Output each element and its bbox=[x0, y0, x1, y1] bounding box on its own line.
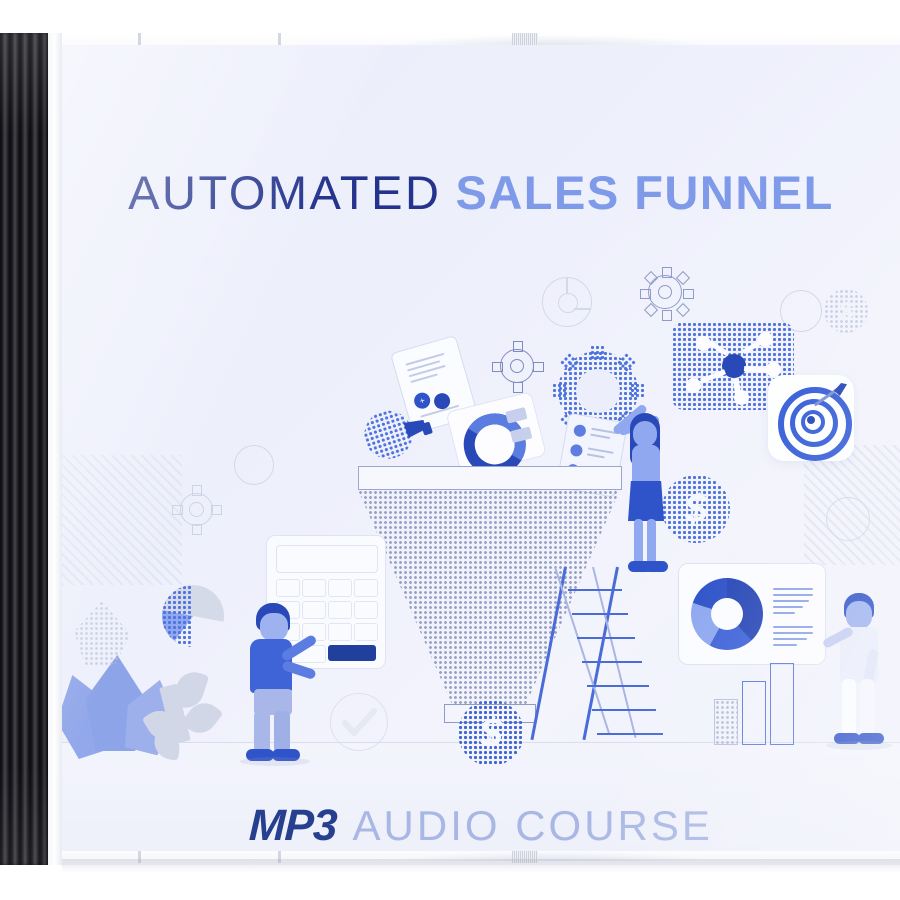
case-notch bbox=[278, 33, 281, 45]
case-drop-shadow bbox=[62, 859, 900, 873]
dollar-coin-icon-small: $ bbox=[824, 289, 868, 333]
page-title: AUTOMATED SALES FUNNEL bbox=[62, 165, 900, 220]
gear-outline-icon bbox=[172, 485, 220, 533]
donut-chart bbox=[691, 578, 763, 650]
case-top-edge bbox=[62, 33, 900, 45]
footer-text: MP3AUDIO COURSE bbox=[62, 801, 900, 851]
dollar-coin-icon: $ bbox=[458, 700, 524, 766]
dollar-sign: $ bbox=[662, 475, 730, 543]
hatch-decoration-left bbox=[62, 455, 182, 585]
gear-outline-icon bbox=[492, 341, 542, 391]
circle-decoration bbox=[234, 445, 274, 485]
case-notch bbox=[512, 33, 538, 45]
title-automated: AUTOMATED bbox=[128, 166, 441, 219]
target-icon bbox=[768, 375, 854, 461]
case-notch bbox=[138, 33, 141, 45]
mp3-logo: MP3 bbox=[248, 801, 337, 851]
cd-jewel-case: $ bbox=[0, 33, 900, 865]
screenshot-root: $ bbox=[0, 0, 900, 900]
man-presenting bbox=[822, 593, 892, 749]
gear-outline-icon bbox=[640, 267, 692, 319]
title-sales-funnel: SALES FUNNEL bbox=[455, 166, 833, 219]
donut-outline-icon bbox=[542, 277, 592, 327]
woman-on-ladder bbox=[592, 395, 672, 575]
dollar-coin-icon-mid: $ bbox=[662, 475, 730, 543]
spine-highlight bbox=[0, 33, 48, 865]
donut-chart-card bbox=[678, 563, 826, 665]
spine-gap bbox=[48, 33, 62, 865]
man-at-calculator bbox=[240, 603, 326, 763]
funnel-top-bar bbox=[358, 466, 622, 490]
dollar-sign: $ bbox=[458, 700, 524, 766]
jewel-case-spine bbox=[0, 33, 48, 865]
checkmark-icon bbox=[330, 693, 388, 751]
ladder bbox=[548, 567, 698, 743]
case-top-bow bbox=[392, 35, 712, 45]
dollar-sign: $ bbox=[824, 289, 868, 333]
circle-decoration bbox=[826, 497, 870, 541]
album-cover-art: $ bbox=[62, 45, 900, 851]
audio-course-label: AUDIO COURSE bbox=[353, 802, 713, 849]
bar-chart bbox=[714, 663, 794, 743]
